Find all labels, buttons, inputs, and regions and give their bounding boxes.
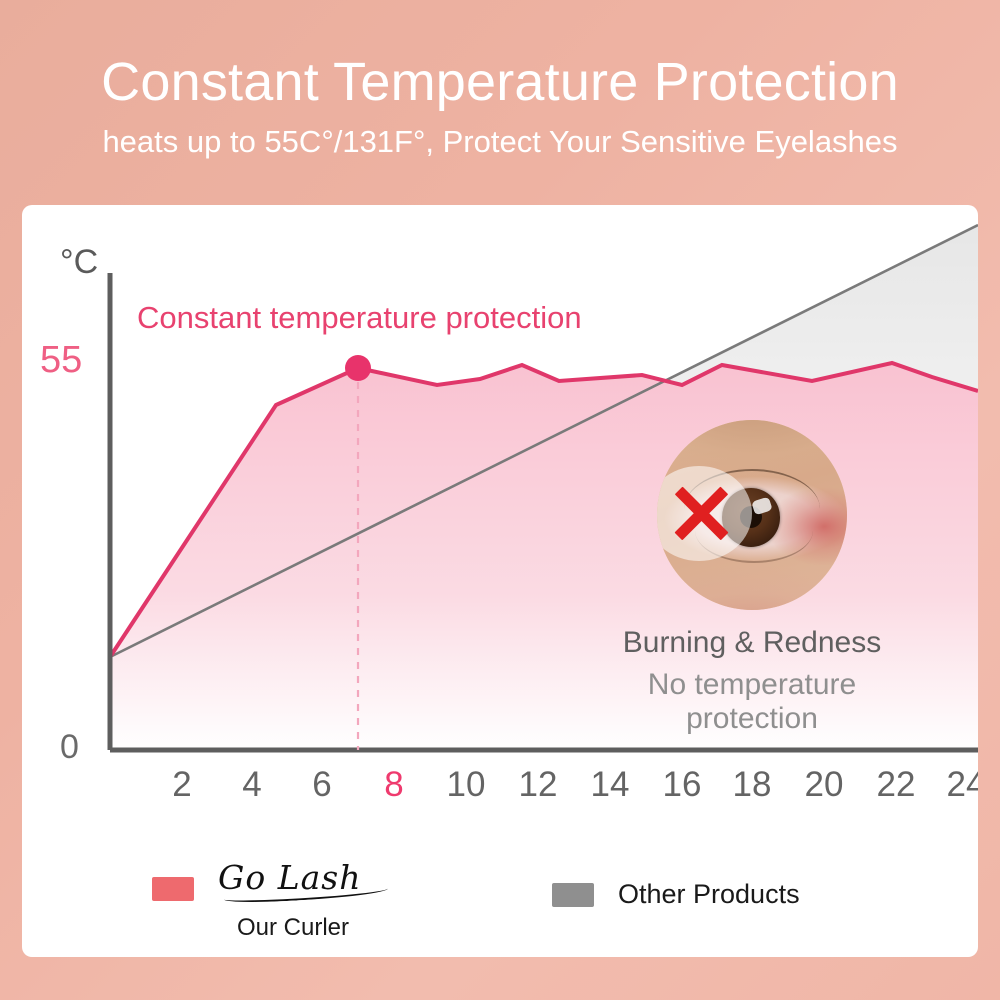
legend-text-other-products: Other Products — [618, 867, 800, 908]
burning-redness-callout: Burning & Redness No temperature protect… — [587, 420, 917, 736]
x-tick-12: 12 — [519, 767, 558, 802]
y-tick-55: 55 — [40, 341, 82, 379]
x-tick-6: 6 — [312, 767, 331, 802]
x-tick-18: 18 — [733, 767, 772, 802]
promo-infographic: Constant Temperature Protection heats up… — [0, 0, 1000, 1000]
legend-text-our-curler: Go Lash Our Curler — [218, 861, 368, 942]
x-axis-tick-labels: 2 4 6 8 10 12 14 16 18 20 22 24 — [22, 767, 978, 827]
red-x-icon — [668, 481, 733, 546]
header: Constant Temperature Protection heats up… — [0, 52, 1000, 160]
x-tick-2: 2 — [172, 767, 191, 802]
page-subtitle: heats up to 55C°/131F°, Protect Your Sen… — [0, 124, 1000, 160]
x-tick-10: 10 — [447, 767, 486, 802]
temperature-chart: °C 55 0 Constant temperature protection — [22, 205, 978, 805]
peak-marker-dot[interactable] — [345, 355, 371, 381]
callout-line-1: Burning & Redness — [587, 626, 917, 660]
chart-legend: Go Lash Our Curler Other Products — [22, 845, 978, 957]
x-tick-22: 22 — [877, 767, 916, 802]
x-tick-16: 16 — [663, 767, 702, 802]
legend-item-other-products[interactable]: Other Products — [552, 867, 800, 908]
x-tick-8: 8 — [384, 767, 403, 802]
page-title: Constant Temperature Protection — [0, 52, 1000, 112]
eye-glint — [752, 497, 773, 516]
x-tick-24: 24 — [947, 767, 978, 802]
irritated-eye-photo — [657, 420, 847, 610]
x-tick-14: 14 — [591, 767, 630, 802]
brand-logo-go-lash: Go Lash — [218, 861, 362, 900]
legend-swatch-gray — [552, 883, 594, 907]
callout-line-2: No temperature protection — [587, 668, 917, 736]
y-axis-unit-label: °C — [60, 245, 98, 279]
legend-label-our-curler: Our Curler — [218, 914, 368, 942]
legend-swatch-pink — [152, 877, 194, 901]
chart-card: °C 55 0 Constant temperature protection — [22, 205, 978, 957]
legend-item-our-curler[interactable]: Go Lash Our Curler — [152, 861, 368, 942]
x-tick-4: 4 — [242, 767, 261, 802]
y-tick-0: 0 — [60, 730, 79, 764]
x-tick-20: 20 — [805, 767, 844, 802]
chart-annotation: Constant temperature protection — [137, 300, 582, 336]
legend-label-other-products: Other Products — [618, 881, 800, 908]
